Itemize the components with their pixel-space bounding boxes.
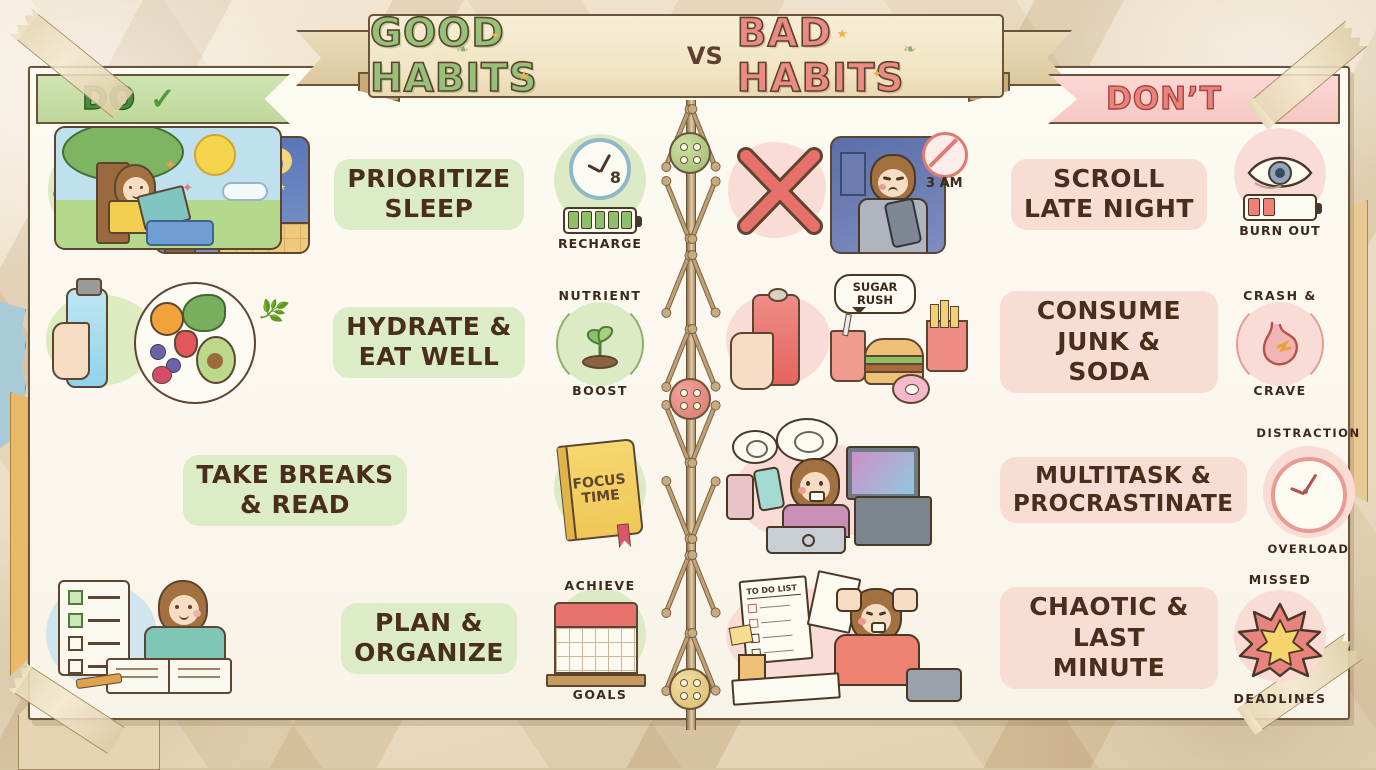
label-line-2: ORGANIZE [354, 638, 504, 667]
badge-caption-top: MISSED [1224, 572, 1336, 587]
wall-chart [840, 152, 866, 196]
starburst-icon [1237, 602, 1323, 683]
shaking-clock-icon [1271, 457, 1347, 533]
girl-jeans [146, 220, 214, 246]
divider-button-green[interactable] [669, 132, 711, 174]
sticky-note [729, 624, 754, 646]
divider-button-yellow[interactable] [669, 668, 711, 710]
monitor-icon [854, 496, 932, 546]
bad-badge-burn-out: BURN OUT [1224, 128, 1336, 260]
bad-habits-column: 3 AM SCROLLLATE NIGHT BURN OUT [726, 120, 1336, 712]
dont-label: DON’T [1106, 81, 1222, 117]
sparkle-icon: ✦ [490, 28, 501, 44]
hand-on-head [892, 588, 918, 612]
bad-badge-crash-crave: CRASH & CRAVE [1224, 276, 1336, 408]
no-clock-sign-icon [922, 132, 968, 178]
salad-bowl-icon [134, 282, 256, 404]
good-habits-column: ★ ★ ★ ★ PRIORITIZESLEEP [46, 120, 656, 712]
label-line-2: JUNK & SODA [1057, 327, 1160, 387]
label-line-1: PRIORITIZE [347, 164, 510, 193]
good-badge-achieve-goals: ACHIEVE GOALS [544, 572, 656, 704]
label-line-1: TAKE BREAKS [196, 460, 393, 489]
boy-head [870, 154, 916, 202]
star-icon: ★ [518, 68, 530, 84]
label-line-1: PLAN & [375, 608, 483, 637]
good-badge-recharge: 8 RECHARGE [544, 128, 656, 260]
hand-icon [52, 322, 90, 380]
thought-bubble-icon [732, 430, 778, 464]
clock-hours-value: 8 [610, 168, 621, 187]
label-line-2: SLEEP [385, 194, 474, 223]
monitor-icon [846, 446, 920, 500]
leaf-sprig-icon: ❧ [903, 40, 916, 58]
hand-on-head [836, 588, 862, 612]
divider-button-red[interactable] [669, 378, 711, 420]
bad-badge-distraction-overload: DISTRACTION OVERLOAD [1253, 424, 1365, 556]
leaf-sprig-icon: ❧ [456, 40, 469, 58]
star-icon: ★ [836, 26, 848, 42]
book-title-line-2: TIME [581, 488, 621, 507]
bookmark-ribbon [617, 523, 631, 548]
x-icon [732, 142, 828, 240]
center-divider-seam [672, 100, 708, 730]
title-banner-body: ❧ ✦ ★ GOOD HABITS VS BAD HABITS ★ ✦ ❧ [368, 14, 1004, 98]
label-line-2: LAST MINUTE [1053, 623, 1166, 683]
good-badge-focus-time: FOCUS TIME [544, 424, 656, 556]
label-line-1: SCROLL [1053, 164, 1165, 193]
stressed-girl-head [790, 458, 840, 510]
label-line-2: EAT WELL [359, 342, 500, 371]
donut-icon [892, 374, 930, 404]
todo-list-icon: TO DO LIST [738, 575, 813, 665]
label-line-2: PROCRASTINATE [1013, 491, 1234, 517]
sun-icon [194, 134, 236, 176]
tired-eye-icon [1243, 151, 1317, 191]
bubble-line-1: SUGAR [853, 280, 898, 294]
label-line-1: MULTITASK & [1035, 463, 1211, 489]
battery-low-icon [1243, 194, 1317, 221]
bad-row-scroll[interactable]: 3 AM SCROLLLATE NIGHT BURN OUT [726, 120, 1336, 268]
burger-icon [864, 338, 920, 378]
blueberry [150, 344, 166, 360]
title-vs: VS [683, 42, 727, 70]
badge-caption-bottom: BOOST [544, 383, 656, 398]
badge-caption-bottom: CRAVE [1224, 383, 1336, 398]
badge-caption-top: DISTRACTION [1253, 426, 1365, 440]
bad-row-multitask[interactable]: MULTITASK &PROCRASTINATE DISTRACTION OVE… [726, 416, 1336, 564]
office-chair [906, 668, 962, 702]
label-line-1: CONSUME [1037, 296, 1181, 325]
badge-caption: BURN OUT [1239, 224, 1320, 238]
bad-label-chaotic: CHAOTIC &LAST MINUTE [994, 587, 1224, 689]
strawberry [174, 330, 198, 358]
badge-arc [1236, 300, 1324, 388]
badge-caption-bottom: GOALS [544, 687, 656, 702]
phone-icon [726, 474, 754, 520]
time-tag: 3 AM [926, 176, 963, 191]
bad-row-junk[interactable]: SUGAR RUSH CONSUMEJUNK & SODA [726, 268, 1336, 416]
reading-under-tree-illustration: ✦ ✦ [54, 126, 282, 250]
book-icon: FOCUS TIME [556, 438, 644, 542]
title-banner: ❧ ✦ ★ GOOD HABITS VS BAD HABITS ★ ✦ ❧ [296, 14, 1072, 92]
badge-caption-bottom: DEADLINES [1224, 691, 1336, 706]
badge-caption-bottom: OVERLOAD [1253, 542, 1365, 556]
bad-badge-missed-deadlines: MISSED DEADLINES [1224, 572, 1336, 704]
clock-icon: 8 [569, 138, 631, 200]
label-line-1: HYDRATE & [346, 312, 512, 341]
good-label-sleep: PRIORITIZESLEEP [314, 159, 544, 230]
raspberry [152, 366, 172, 384]
leaf-icon: 🌿 [256, 294, 291, 328]
label-line-2: LATE NIGHT [1024, 194, 1194, 223]
butterfly-icon: ✦ [164, 156, 177, 174]
badge-caption-top: ACHIEVE [544, 578, 656, 593]
good-row-breaks[interactable]: ✦ ✦ TAKE BREAKS& READ FOCUS TIME [46, 416, 656, 564]
sugar-rush-speech-bubble: SUGAR RUSH [834, 274, 916, 314]
planning-illustration [46, 572, 314, 704]
badge-caption: RECHARGE [558, 237, 642, 251]
avocado [196, 336, 236, 384]
label-line-2: & READ [240, 490, 350, 519]
soda-cup-icon [830, 330, 866, 382]
bad-label-scroll: SCROLLLATE NIGHT [994, 159, 1224, 230]
good-label-breaks: TAKE BREAKS& READ [46, 455, 544, 526]
title-bad-habits: BAD HABITS [737, 11, 1002, 101]
multitask-illustration [726, 424, 994, 556]
good-row-hydrate[interactable]: 🌿 HYDRATE &EAT WELL NUTRIENT BOOST [46, 268, 656, 416]
bad-label-multitask: MULTITASK &PROCRASTINATE [994, 457, 1253, 523]
calendar-icon [554, 602, 646, 687]
good-row-plan[interactable]: PLAN &ORGANIZE ACHIEVE GOALS [46, 564, 656, 712]
hydrate-illustration: 🌿 [46, 276, 314, 408]
todo-list-title: TO DO LIST [746, 583, 801, 600]
fries-icon [926, 320, 968, 372]
title-good-habits: GOOD HABITS [370, 11, 673, 101]
hand-icon [730, 332, 774, 390]
bad-row-chaotic[interactable]: TO DO LIST CHAOTIC &LAST M [726, 564, 1336, 712]
scroll-late-night-illustration: 3 AM [726, 128, 994, 260]
laptop-icon [766, 526, 846, 554]
good-badge-nutrient-boost: NUTRIENT BOOST [544, 276, 656, 408]
label-line-1: CHAOTIC & [1029, 592, 1189, 621]
chaotic-desk-illustration: TO DO LIST [726, 572, 994, 704]
sparkle-icon: ✦ [871, 66, 882, 82]
good-label-hydrate: HYDRATE &EAT WELL [314, 307, 544, 378]
bubble-line-2: RUSH [857, 293, 893, 307]
junk-food-illustration: SUGAR RUSH [726, 276, 994, 408]
cloud-icon [222, 182, 268, 201]
lettuce [182, 294, 226, 332]
badge-arc [556, 300, 644, 388]
open-notebook-icon [106, 658, 232, 694]
badge-caption-top: CRASH & [1224, 288, 1336, 303]
stomach-icon [1238, 302, 1322, 386]
bad-label-junk: CONSUMEJUNK & SODA [994, 291, 1224, 393]
thought-bubble-icon [776, 418, 838, 462]
sprout-icon [558, 302, 642, 386]
check-icon: ✓ [150, 82, 175, 117]
good-label-plan: PLAN &ORGANIZE [314, 603, 544, 674]
battery-full-icon [563, 207, 637, 234]
